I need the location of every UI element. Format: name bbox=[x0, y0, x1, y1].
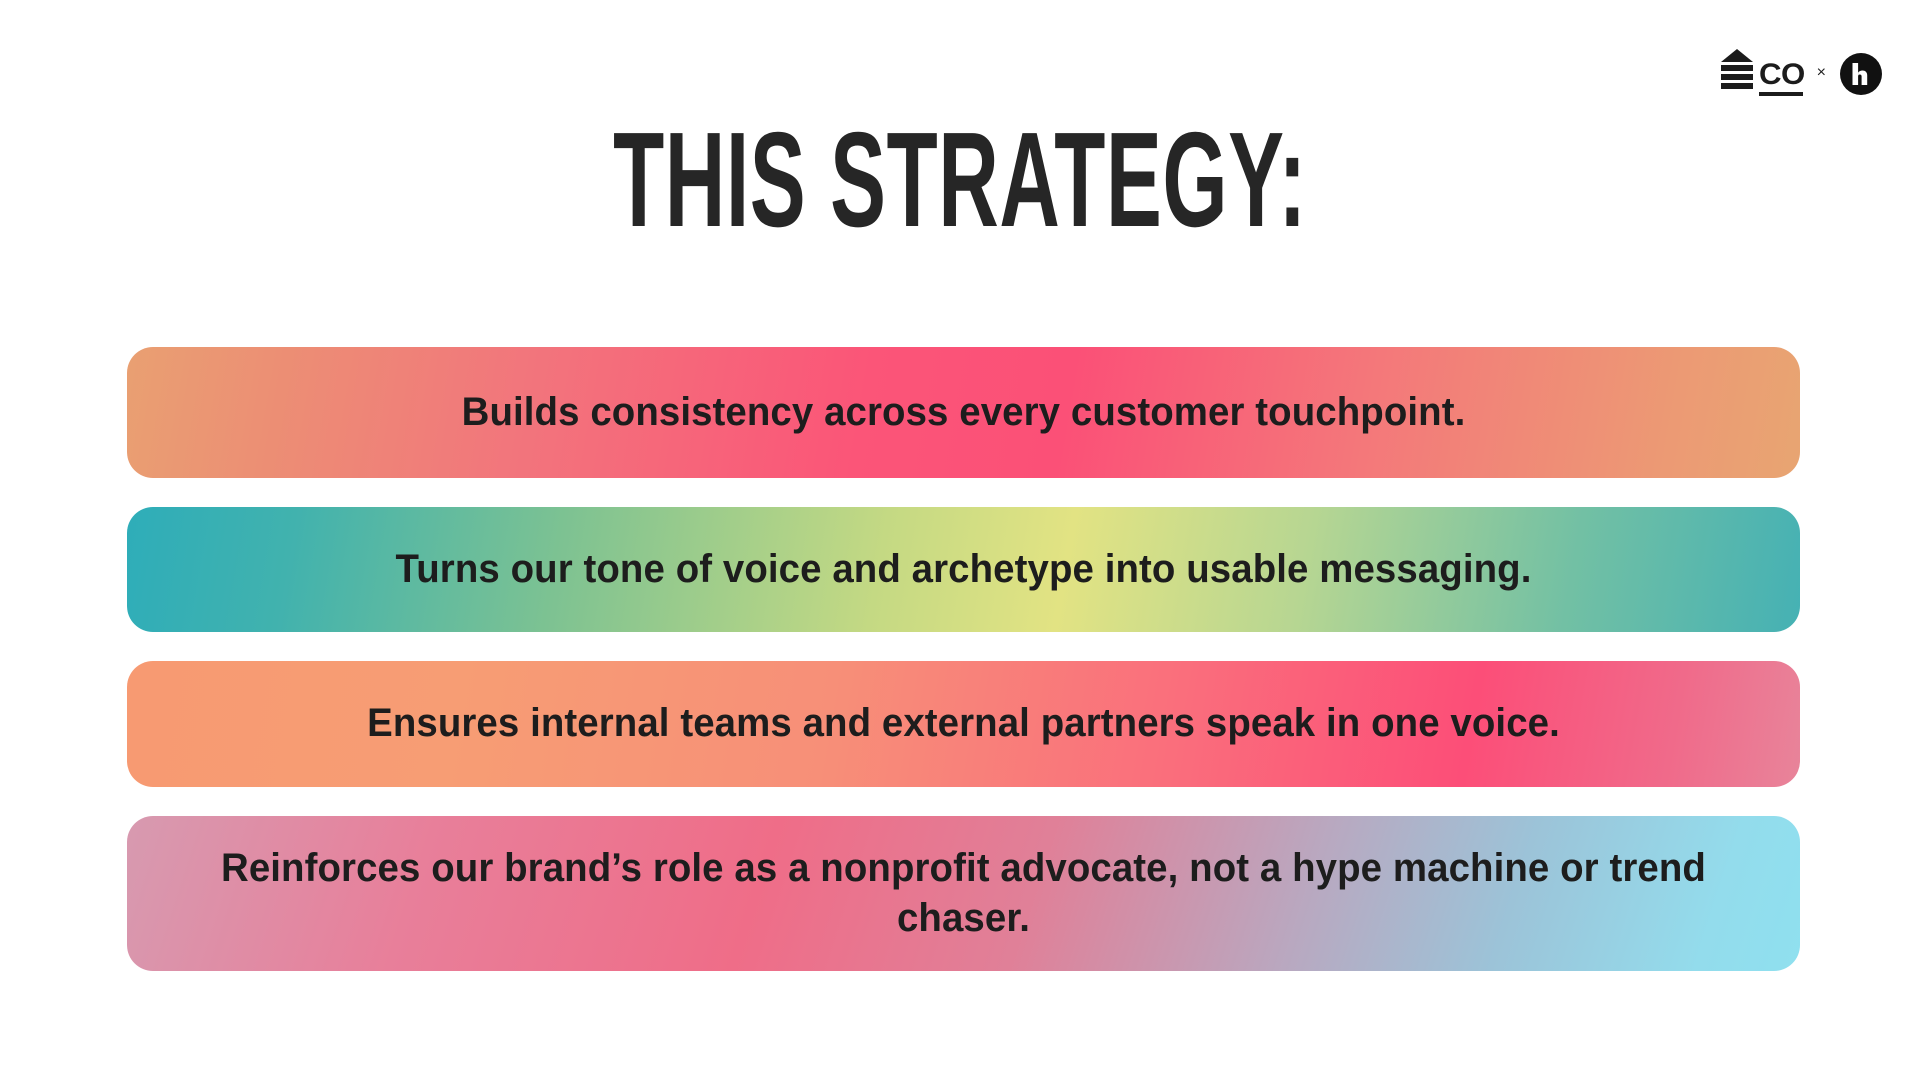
co-underline-rule bbox=[1759, 92, 1803, 96]
bar-text: Builds consistency across every customer… bbox=[205, 388, 1723, 438]
bar-text: Reinforces our brand’s role as a nonprof… bbox=[205, 844, 1723, 943]
slide-canvas: CO × THIS STRATEGY: Builds consistency a… bbox=[0, 0, 1920, 1080]
list-item: Turns our tone of voice and archetype in… bbox=[127, 507, 1800, 632]
co-logo: CO bbox=[1720, 52, 1803, 96]
logo-separator-x: × bbox=[1817, 65, 1826, 83]
brand-logo-lockup: CO × bbox=[1720, 48, 1882, 100]
list-item: Reinforces our brand’s role as a nonprof… bbox=[127, 816, 1800, 971]
co-wordmark: CO bbox=[1759, 61, 1803, 96]
list-item: Ensures internal teams and external part… bbox=[127, 661, 1800, 787]
co-wordmark-text: CO bbox=[1759, 61, 1805, 89]
list-item: Builds consistency across every customer… bbox=[127, 347, 1800, 478]
strategy-benefits-list: Builds consistency across every customer… bbox=[127, 347, 1800, 1000]
bar-text: Turns our tone of voice and archetype in… bbox=[205, 545, 1723, 595]
h-badge-icon bbox=[1840, 53, 1882, 95]
page-title: THIS STRATEGY: bbox=[365, 112, 1555, 247]
bar-text: Ensures internal teams and external part… bbox=[205, 699, 1723, 749]
house-stripes-icon bbox=[1720, 49, 1754, 96]
